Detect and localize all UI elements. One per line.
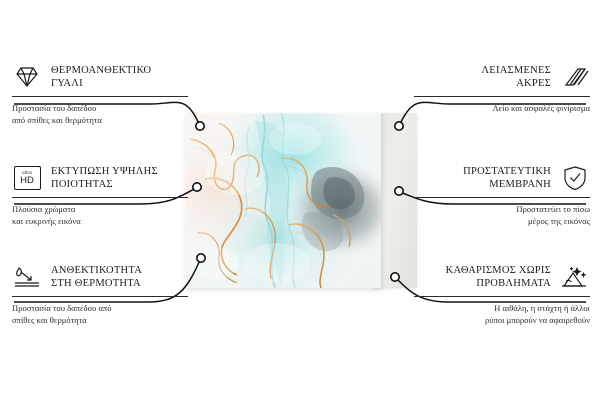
infographic-canvas: ΘΕΡΜΟΑΝΘΕΚΤΙΚΟ ΓΥΑΛΙ Προστασία του δαπέδ… <box>0 0 600 400</box>
divider <box>414 197 590 198</box>
feature-title: ΑΝΘΕΚΤΙΚΟΤΗΤΑ ΣΤΗ ΘΕΡΜΟΤΗΤΑ <box>51 264 142 291</box>
feature-header: ultra HD ΕΚΤΥΠΩΣΗ ΥΨΗΛΗΣ ΠΟΙΟΤΗΤΑΣ <box>12 163 188 193</box>
divider <box>12 96 188 97</box>
feature-polished-edges: ΛΕΙΑΣΜΕΝΕΣ ΑΚΡΕΣ Λείο και ασφαλές φινίρι… <box>414 62 590 114</box>
divider <box>12 197 188 198</box>
ultra-hd-icon-bottom-label: HD <box>20 176 34 186</box>
feature-title: ΛΕΙΑΣΜΕΝΕΣ ΑΚΡΕΣ <box>481 64 551 91</box>
divider <box>414 96 590 97</box>
heat-resistance-icon <box>12 264 42 290</box>
feature-title: ΚΑΘΑΡΙΣΜΟΣ ΧΩΡΙΣ ΠΡΟΒΛΗΜΑΤΑ <box>446 264 551 291</box>
feature-header: ΘΕΡΜΟΑΝΘΕΚΤΙΚΟ ΓΥΑΛΙ <box>12 62 188 92</box>
diamond-icon <box>12 64 42 90</box>
feature-header: ΛΕΙΑΣΜΕΝΕΣ ΑΚΡΕΣ <box>414 62 590 92</box>
feature-easy-cleaning: ΚΑΘΑΡΙΣΜΟΣ ΧΩΡΙΣ ΠΡΟΒΛΗΜΑΤΑ Η αιθάλη, η … <box>414 262 590 326</box>
feature-heat-resistant-glass: ΘΕΡΜΟΑΝΘΕΚΤΙΚΟ ΓΥΑΛΙ Προστασία του δαπέδ… <box>12 62 188 126</box>
feature-description: Προστατεύει το πίσω μέρος της εικόνας <box>414 203 590 227</box>
feature-high-quality-print: ultra HD ΕΚΤΥΠΩΣΗ ΥΨΗΛΗΣ ΠΟΙΟΤΗΤΑΣ Πλούσ… <box>12 163 188 227</box>
easy-cleaning-icon <box>560 264 590 290</box>
divider <box>12 296 188 297</box>
feature-description: Πλούσια χρώματα και ευκρινής εικόνα <box>12 203 188 227</box>
feature-description: Προστασία του δαπέδου από σπίθες και θερ… <box>12 102 188 126</box>
feature-title: ΠΡΟΣΤΑΤΕΥΤΙΚΗ ΜΕΜΒΡΑΝΗ <box>463 165 551 192</box>
feature-header: ΠΡΟΣΤΑΤΕΥΤΙΚΗ ΜΕΜΒΡΑΝΗ <box>414 163 590 193</box>
divider <box>414 296 590 297</box>
feature-heat-resistance: ΑΝΘΕΚΤΙΚΟΤΗΤΑ ΣΤΗ ΘΕΡΜΟΤΗΤΑ Προστασία το… <box>12 262 188 326</box>
marble-artwork <box>185 113 381 288</box>
polished-edges-icon <box>560 64 590 90</box>
product-front-glass <box>185 113 381 288</box>
shield-check-icon <box>560 165 590 191</box>
feature-title: ΘΕΡΜΟΑΝΘΕΚΤΙΚΟ ΓΥΑΛΙ <box>51 64 151 91</box>
feature-title: ΕΚΤΥΠΩΣΗ ΥΨΗΛΗΣ ΠΟΙΟΤΗΤΑΣ <box>51 165 158 192</box>
feature-header: ΚΑΘΑΡΙΣΜΟΣ ΧΩΡΙΣ ΠΡΟΒΛΗΜΑΤΑ <box>414 262 590 292</box>
feature-description: Προστασία του δαπέδου από σπίθες και θερ… <box>12 302 188 326</box>
feature-header: ΑΝΘΕΚΤΙΚΟΤΗΤΑ ΣΤΗ ΘΕΡΜΟΤΗΤΑ <box>12 262 188 292</box>
product-image <box>185 113 417 288</box>
feature-description: Η αιθάλη, η στάχτη ή άλλοι ρύποι μπορούν… <box>414 302 590 326</box>
feature-protective-film: ΠΡΟΣΤΑΤΕΥΤΙΚΗ ΜΕΜΒΡΑΝΗ Προστατεύει το πί… <box>414 163 590 227</box>
feature-description: Λείο και ασφαλές φινίρισμα <box>414 102 590 114</box>
ultra-hd-icon: ultra HD <box>12 165 42 191</box>
